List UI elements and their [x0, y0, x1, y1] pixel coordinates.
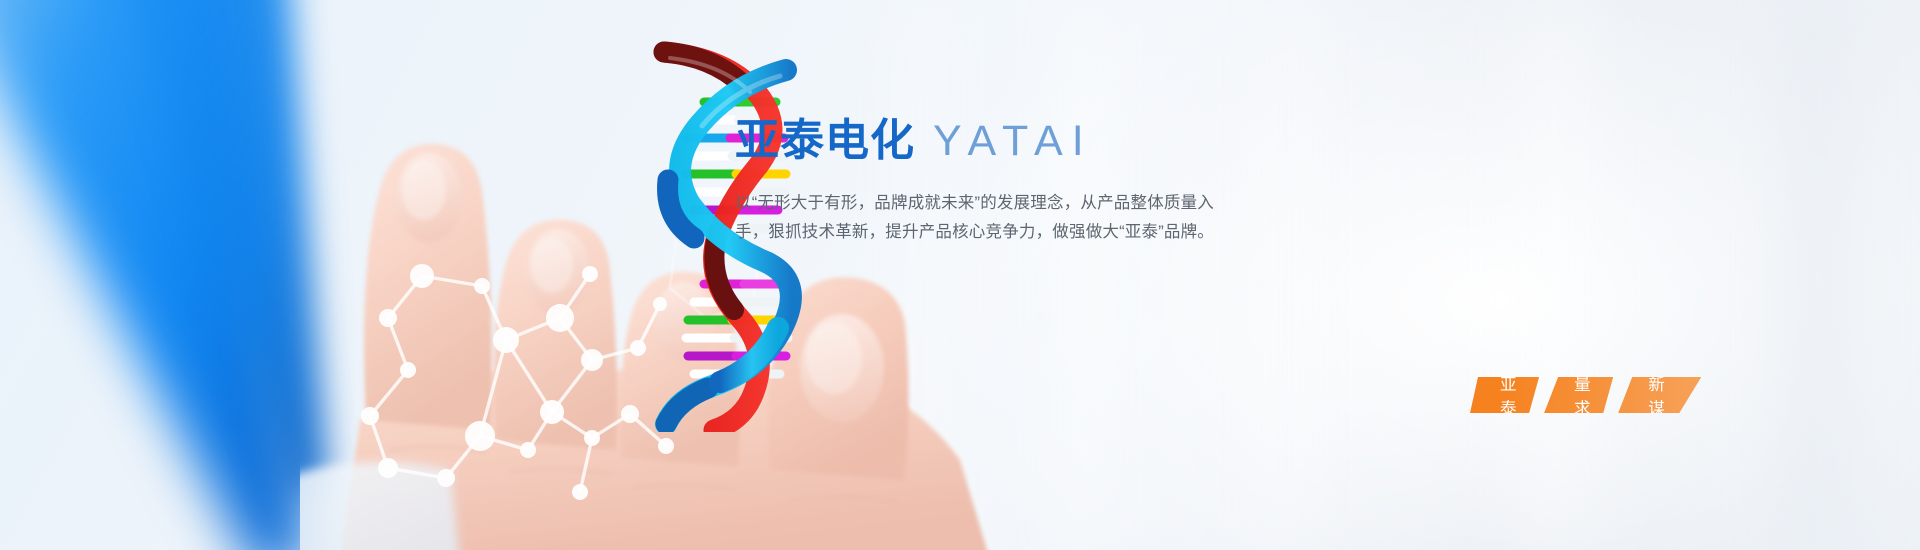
title-chinese: 亚泰电化 — [735, 116, 915, 165]
slogan-tag-list: 发扬亚泰精神 以质量求生存 以创新谋发展 — [1470, 377, 1700, 413]
background-streak — [1490, 0, 1620, 550]
title-english: YATAI — [933, 117, 1093, 165]
background-streak — [1050, 0, 1110, 550]
banner-copy: 亚泰电化YATAI 以“无形大于有形，品牌成就未来”的发展理念，从产品整体质量入… — [735, 115, 1435, 247]
slogan-tag-3[interactable]: 以创新谋发展 — [1618, 377, 1701, 413]
background-streak — [1240, 0, 1330, 550]
slogan-tag-3-label: 以创新谋发展 — [1648, 323, 1665, 467]
hero-banner: 亚泰电化YATAI 以“无形大于有形，品牌成就未来”的发展理念，从产品整体质量入… — [0, 0, 1920, 550]
slogan-tag-2[interactable]: 以质量求生存 — [1544, 377, 1613, 413]
slogan-tag-1[interactable]: 发扬亚泰精神 — [1470, 377, 1539, 413]
page-title: 亚泰电化YATAI — [735, 115, 1435, 167]
background-streak — [1760, 0, 1880, 550]
banner-subtitle: 以“无形大于有形，品牌成就未来”的发展理念，从产品整体质量入手，狠抓技术革新，提… — [735, 189, 1245, 247]
